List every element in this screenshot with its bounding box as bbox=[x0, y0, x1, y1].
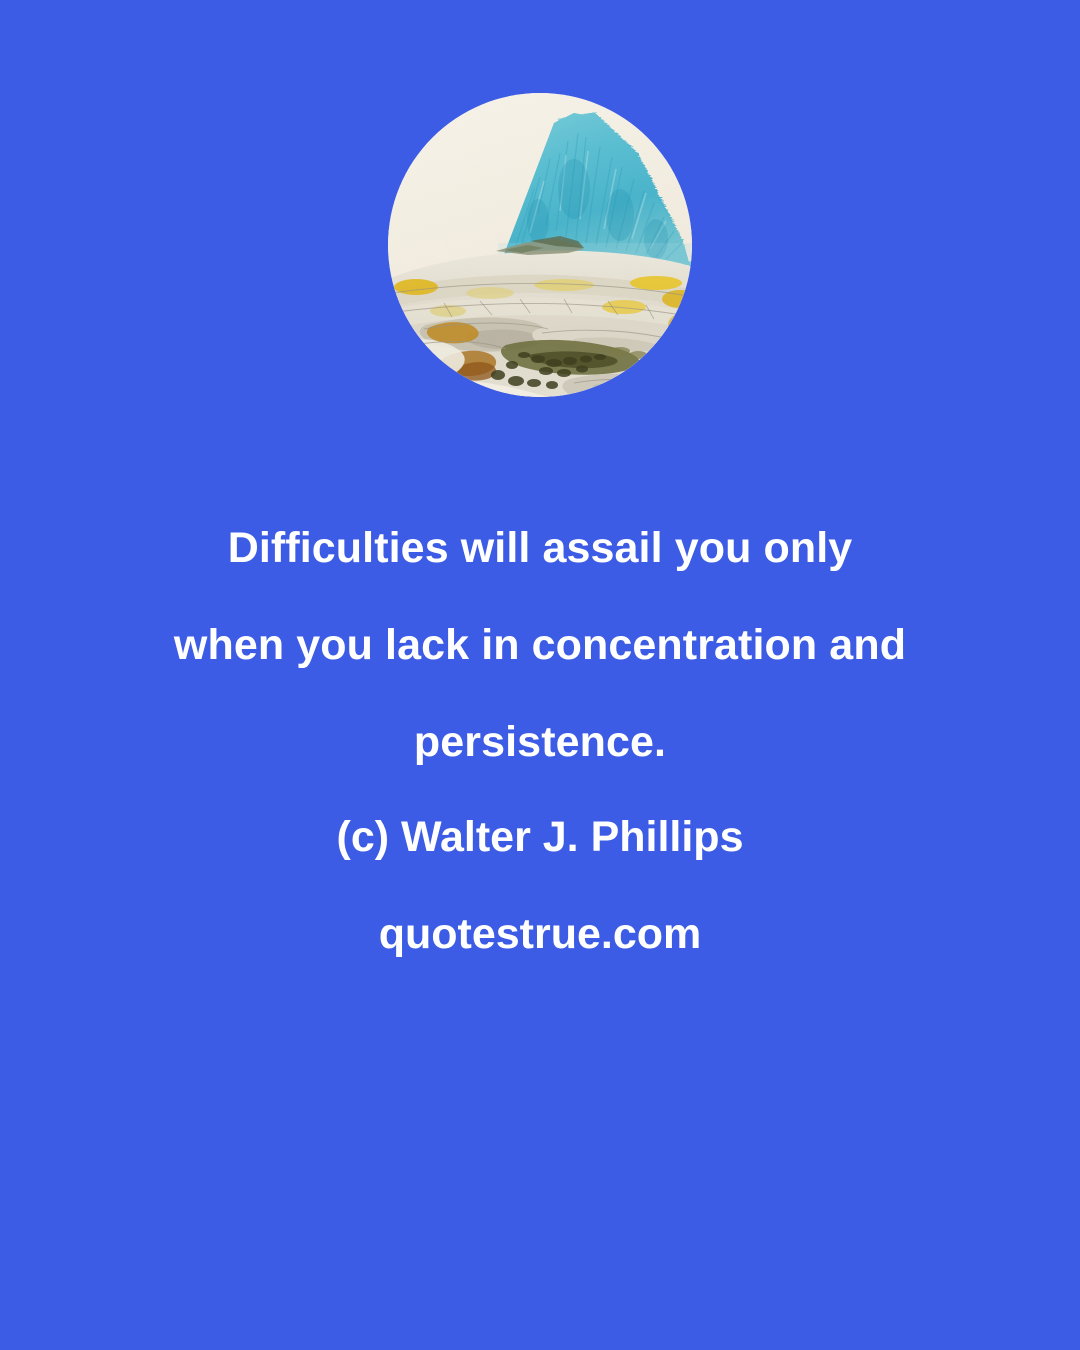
quote-card: Difficulties will assail you only when y… bbox=[0, 0, 1080, 1350]
landscape-watercolor-thumbnail bbox=[388, 93, 692, 397]
landscape-artwork-svg bbox=[388, 93, 692, 397]
source-website: quotestrue.com bbox=[0, 913, 1080, 956]
quote-line-2: when you lack in concentration and bbox=[0, 624, 1080, 667]
quote-line-3: persistence. bbox=[0, 721, 1080, 764]
artwork-container bbox=[388, 93, 692, 397]
quote-line-1: Difficulties will assail you only bbox=[0, 527, 1080, 570]
quote-attribution: (c) Walter J. Phillips bbox=[0, 816, 1080, 859]
